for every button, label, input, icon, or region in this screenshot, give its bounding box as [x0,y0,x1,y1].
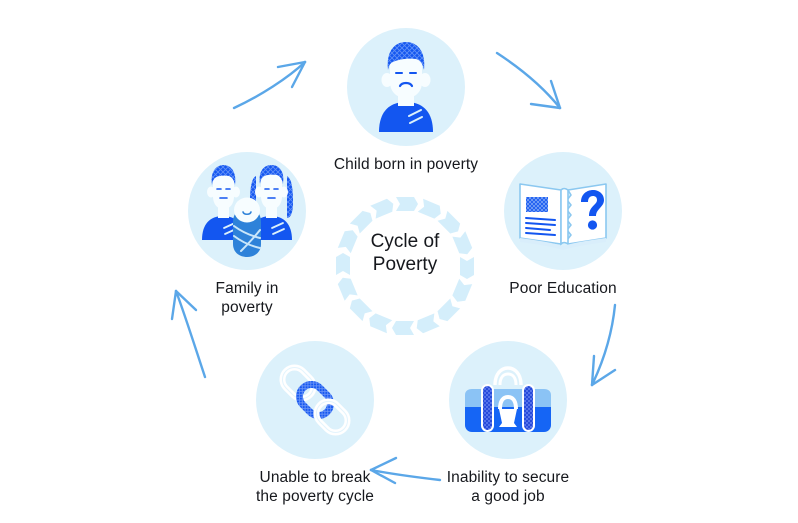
label-line: Family in [152,279,342,298]
center-title-line2: Poverty [319,253,491,276]
icon-circle-chain [256,341,374,459]
sad-child-icon [347,28,465,146]
center-cycle-ring: Cycle of Poverty [319,192,491,340]
arrow-child-to-education [497,53,560,108]
label-line: a good job [413,487,603,506]
label-line: the poverty cycle [220,487,410,506]
locked-briefcase-icon [449,341,567,459]
center-title: Cycle of Poverty [319,230,491,276]
node-label-chain: Unable to break the poverty cycle [220,468,410,506]
node-family-in-poverty[interactable]: Family in poverty [152,152,342,317]
node-label-education: Poor Education [468,279,658,298]
label-line: poverty [152,298,342,317]
label-line: Unable to break [220,468,410,487]
node-unable-to-break-cycle[interactable]: Unable to break the poverty cycle [220,341,410,506]
icon-circle-child [347,28,465,146]
node-poor-education[interactable]: Poor Education [468,152,658,298]
icon-circle-family [188,152,306,270]
infographic-canvas: Cycle of Poverty [0,0,798,523]
chain-links-icon [256,341,374,459]
node-inability-to-secure-job[interactable]: Inability to secure a good job [413,341,603,506]
icon-circle-job [449,341,567,459]
label-line: Inability to secure [413,468,603,487]
node-label-family: Family in poverty [152,279,342,317]
center-title-line1: Cycle of [319,230,491,253]
family-with-baby-icon [188,152,306,270]
open-book-question-icon [504,152,622,270]
label-line: Poor Education [468,279,658,298]
icon-circle-education [504,152,622,270]
node-label-job: Inability to secure a good job [413,468,603,506]
arrow-family-to-child [234,62,305,108]
